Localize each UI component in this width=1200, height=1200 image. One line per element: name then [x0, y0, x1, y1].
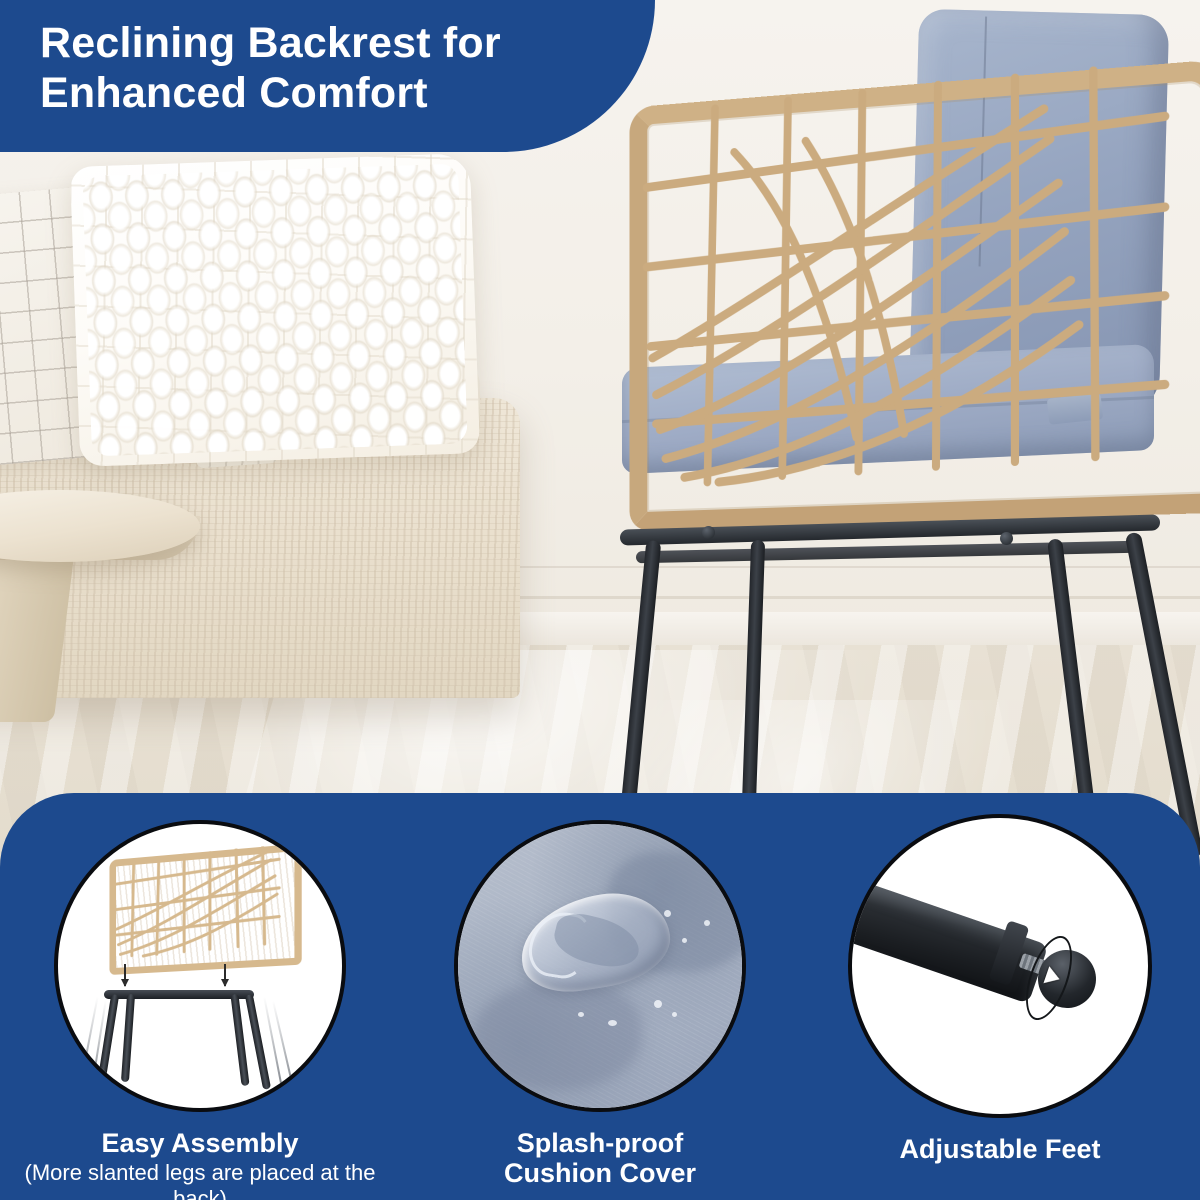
feature-image-assembly-diagram — [54, 820, 346, 1112]
feature-panel: Easy Assembly (More slanted legs are pla… — [0, 793, 1200, 1200]
rattan-accent-chair — [596, 70, 1200, 810]
feature-title: Adjustable Feet — [899, 1134, 1100, 1164]
feature-title-line-2: Cushion Cover — [504, 1158, 696, 1188]
product-feature-image: Reclining Backrest for Enhanced Comfort — [0, 0, 1200, 1200]
feature-item-adjustable-feet: Adjustable Feet — [800, 793, 1200, 1200]
headline-banner: Reclining Backrest for Enhanced Comfort — [0, 0, 655, 152]
knit-texture — [82, 164, 468, 457]
water-bead — [654, 1000, 662, 1008]
fabric-shadow — [472, 980, 642, 1090]
water-bead — [664, 910, 671, 917]
chair-leg-front — [741, 540, 765, 836]
feature-caption: Easy Assembly (More slanted legs are pla… — [0, 1128, 400, 1200]
water-bead — [608, 1020, 617, 1026]
frame-bolt — [702, 526, 715, 539]
feature-title-line-1: Splash-proof — [504, 1128, 696, 1158]
page-title-line-1: Reclining Backrest for — [40, 18, 620, 68]
assembly-arrow-down-icon — [224, 964, 226, 986]
leg-position-hint — [272, 1001, 294, 1087]
metal-leg — [121, 994, 135, 1082]
feature-item-splash-proof: Splash-proof Cushion Cover — [400, 793, 800, 1200]
chunky-knit-pillow — [70, 153, 480, 467]
page-title: Reclining Backrest for Enhanced Comfort — [0, 0, 620, 119]
feature-image-water-droplet — [454, 820, 746, 1112]
feature-caption: Adjustable Feet — [899, 1134, 1100, 1164]
feature-item-easy-assembly: Easy Assembly (More slanted legs are pla… — [0, 793, 400, 1200]
water-bead — [704, 920, 710, 926]
water-bead — [682, 938, 687, 943]
feature-caption: Splash-proof Cushion Cover — [504, 1128, 696, 1188]
leg-position-hint — [79, 997, 98, 1086]
assembly-arrow-down-icon — [124, 964, 126, 986]
feature-image-adjustable-foot — [848, 814, 1152, 1118]
page-title-line-2: Enhanced Comfort — [40, 68, 620, 118]
water-bead — [578, 1012, 584, 1017]
frame-bolt — [1000, 532, 1013, 545]
rattan-web-pattern — [628, 61, 1186, 493]
water-bead — [672, 1012, 677, 1017]
rattan-web-pattern-small — [109, 844, 287, 961]
feature-subtitle: (More slanted legs are placed at the bac… — [0, 1160, 400, 1200]
feature-title: Easy Assembly — [0, 1128, 400, 1158]
